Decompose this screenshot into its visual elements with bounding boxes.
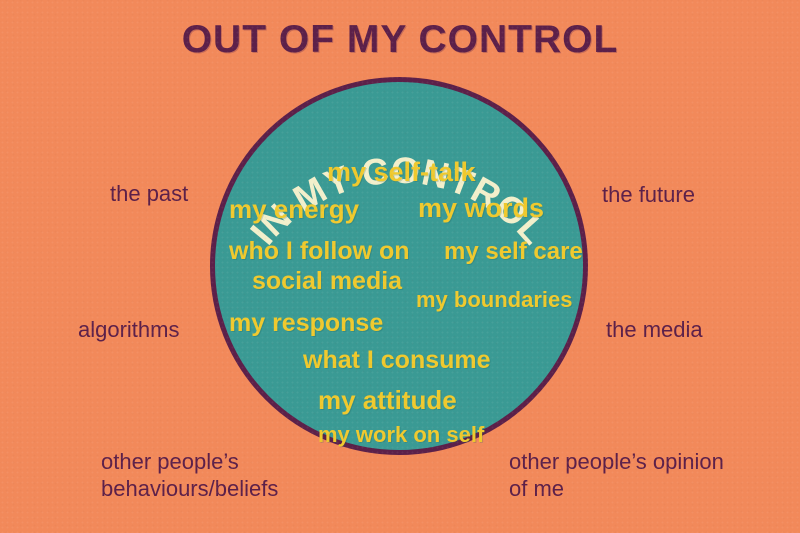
out-of-my-control-item: the future [602, 181, 695, 208]
out-of-my-control-item: other people’s behaviours/beliefs [101, 448, 331, 502]
in-my-control-item: my response [229, 309, 383, 338]
in-my-control-item: my self care [444, 238, 583, 266]
out-of-my-control-item: other people’s opinion of me [509, 448, 739, 502]
page-title: OUT OF MY CONTROL [0, 18, 800, 62]
in-my-control-item: my work on self [318, 422, 484, 448]
out-of-my-control-item: the past [110, 180, 188, 207]
in-my-control-item: my boundaries [416, 287, 572, 313]
out-of-my-control-item: the media [606, 316, 703, 343]
in-my-control-item: my self-talk [327, 157, 476, 188]
control-circle-poster: OUT OF MY CONTROL IN MY CONTROL my self-… [0, 0, 800, 533]
in-my-control-item: what I consume [303, 346, 491, 375]
in-my-control-item: who I follow on [229, 237, 410, 266]
in-my-control-item: my attitude [318, 385, 457, 416]
in-my-control-item: social media [252, 267, 402, 296]
in-my-control-item: my words [418, 193, 544, 224]
out-of-my-control-item: algorithms [78, 316, 179, 343]
in-my-control-item: my energy [229, 194, 359, 225]
